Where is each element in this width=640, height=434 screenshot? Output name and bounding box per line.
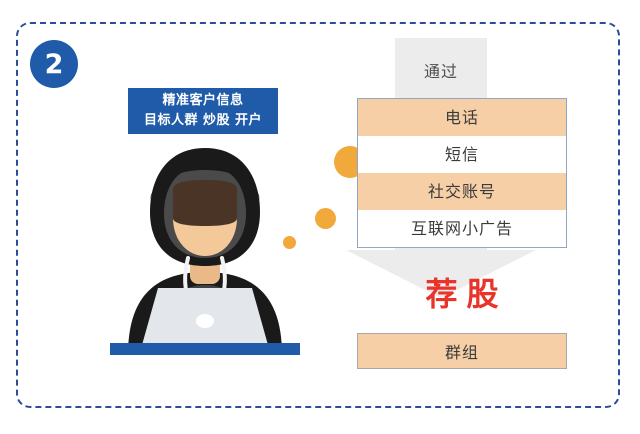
orange-dot-small: [283, 236, 296, 249]
step-number-label: 2: [45, 51, 64, 78]
step-number-badge: 2: [30, 40, 78, 88]
contact-channel-table: 电话 短信 社交账号 互联网小广告: [357, 98, 567, 248]
caption-line-2: 目标人群 炒股 开户: [144, 111, 262, 131]
group-label: 群组: [445, 339, 479, 363]
target-customer-caption-box: 精准客户信息 目标人群 炒股 开户: [128, 88, 278, 134]
group-box: 群组: [357, 333, 567, 369]
infographic-canvas: 2 精准客户信息 目标人群 炒股 开户 通过: [0, 0, 640, 434]
channel-row-internet-ads: 互联网小广告: [358, 210, 566, 247]
caption-line-1: 精准客户信息: [162, 91, 243, 111]
orange-dot-medium: [315, 208, 336, 229]
stock-recommendation-headline: 荐股: [357, 269, 567, 315]
channel-row-social-account: 社交账号: [358, 173, 566, 210]
channel-row-sms: 短信: [358, 136, 566, 173]
channel-row-phone: 电话: [358, 99, 566, 136]
hacker-illustration: [110, 140, 300, 355]
through-label: 通过: [395, 58, 487, 82]
